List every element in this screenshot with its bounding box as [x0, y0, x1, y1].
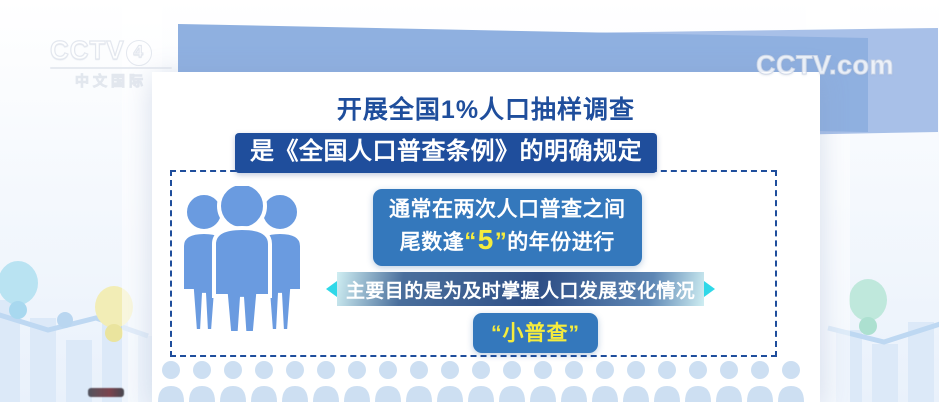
cctv-logo-rule	[50, 67, 172, 69]
quote-close: ”	[495, 228, 508, 255]
people-group-icon	[176, 186, 308, 331]
arrow-right-pointer-icon	[326, 281, 337, 297]
cctv-wordmark: CCTV	[50, 35, 125, 65]
purpose-banner: 主要目的是为及时掌握人口发展变化情况	[326, 272, 715, 306]
arrow-left-pointer-icon	[704, 281, 715, 297]
bg-balloon-left-2	[95, 286, 133, 342]
detail-line-2: 尾数逢“5”的年份进行	[389, 225, 626, 258]
cctv-logo-subtitle: 中文国际	[50, 71, 172, 91]
bg-line-right	[828, 324, 939, 342]
bg-line-left	[0, 312, 148, 336]
bg-bars-left	[0, 300, 164, 402]
page-title: 开展全国1%人口抽样调查	[152, 90, 820, 126]
cctv-channel-number: 4	[126, 40, 152, 66]
detail-line-2-suffix: 的年份进行	[507, 231, 615, 254]
crowd-row-icon	[155, 358, 817, 402]
detail-line-1: 通常在两次人口普查之间	[389, 195, 626, 225]
cctv-logo-text: CCTV4	[50, 36, 172, 66]
detail-line-2-prefix: 尾数逢	[400, 231, 465, 254]
quote-open: “	[464, 228, 477, 255]
cctv-com-watermark: CCTV.com	[756, 50, 894, 81]
highlight-digit: 5	[477, 224, 495, 255]
bg-bars-right	[836, 322, 934, 402]
nickname-badge: “小普查”	[473, 313, 598, 353]
slide-stage: CCTV4 中文国际 CCTV.com 开展全国1%人口抽样调查 是《全国人口普…	[0, 0, 939, 402]
detail-banner: 通常在两次人口普查之间 尾数逢“5”的年份进行	[373, 189, 642, 266]
bg-balloon-left-1	[0, 261, 38, 319]
subtitle-banner: 是《全国人口普查条例》的明确规定	[235, 133, 657, 173]
bg-dot-left	[57, 312, 73, 328]
bg-balloon-right-1	[849, 279, 887, 335]
cctv4-channel-logo: CCTV4 中文国际	[50, 36, 172, 88]
purpose-banner-text: 主要目的是为及时掌握人口发展变化情况	[337, 272, 704, 306]
bottom-left-artifact	[88, 388, 124, 397]
